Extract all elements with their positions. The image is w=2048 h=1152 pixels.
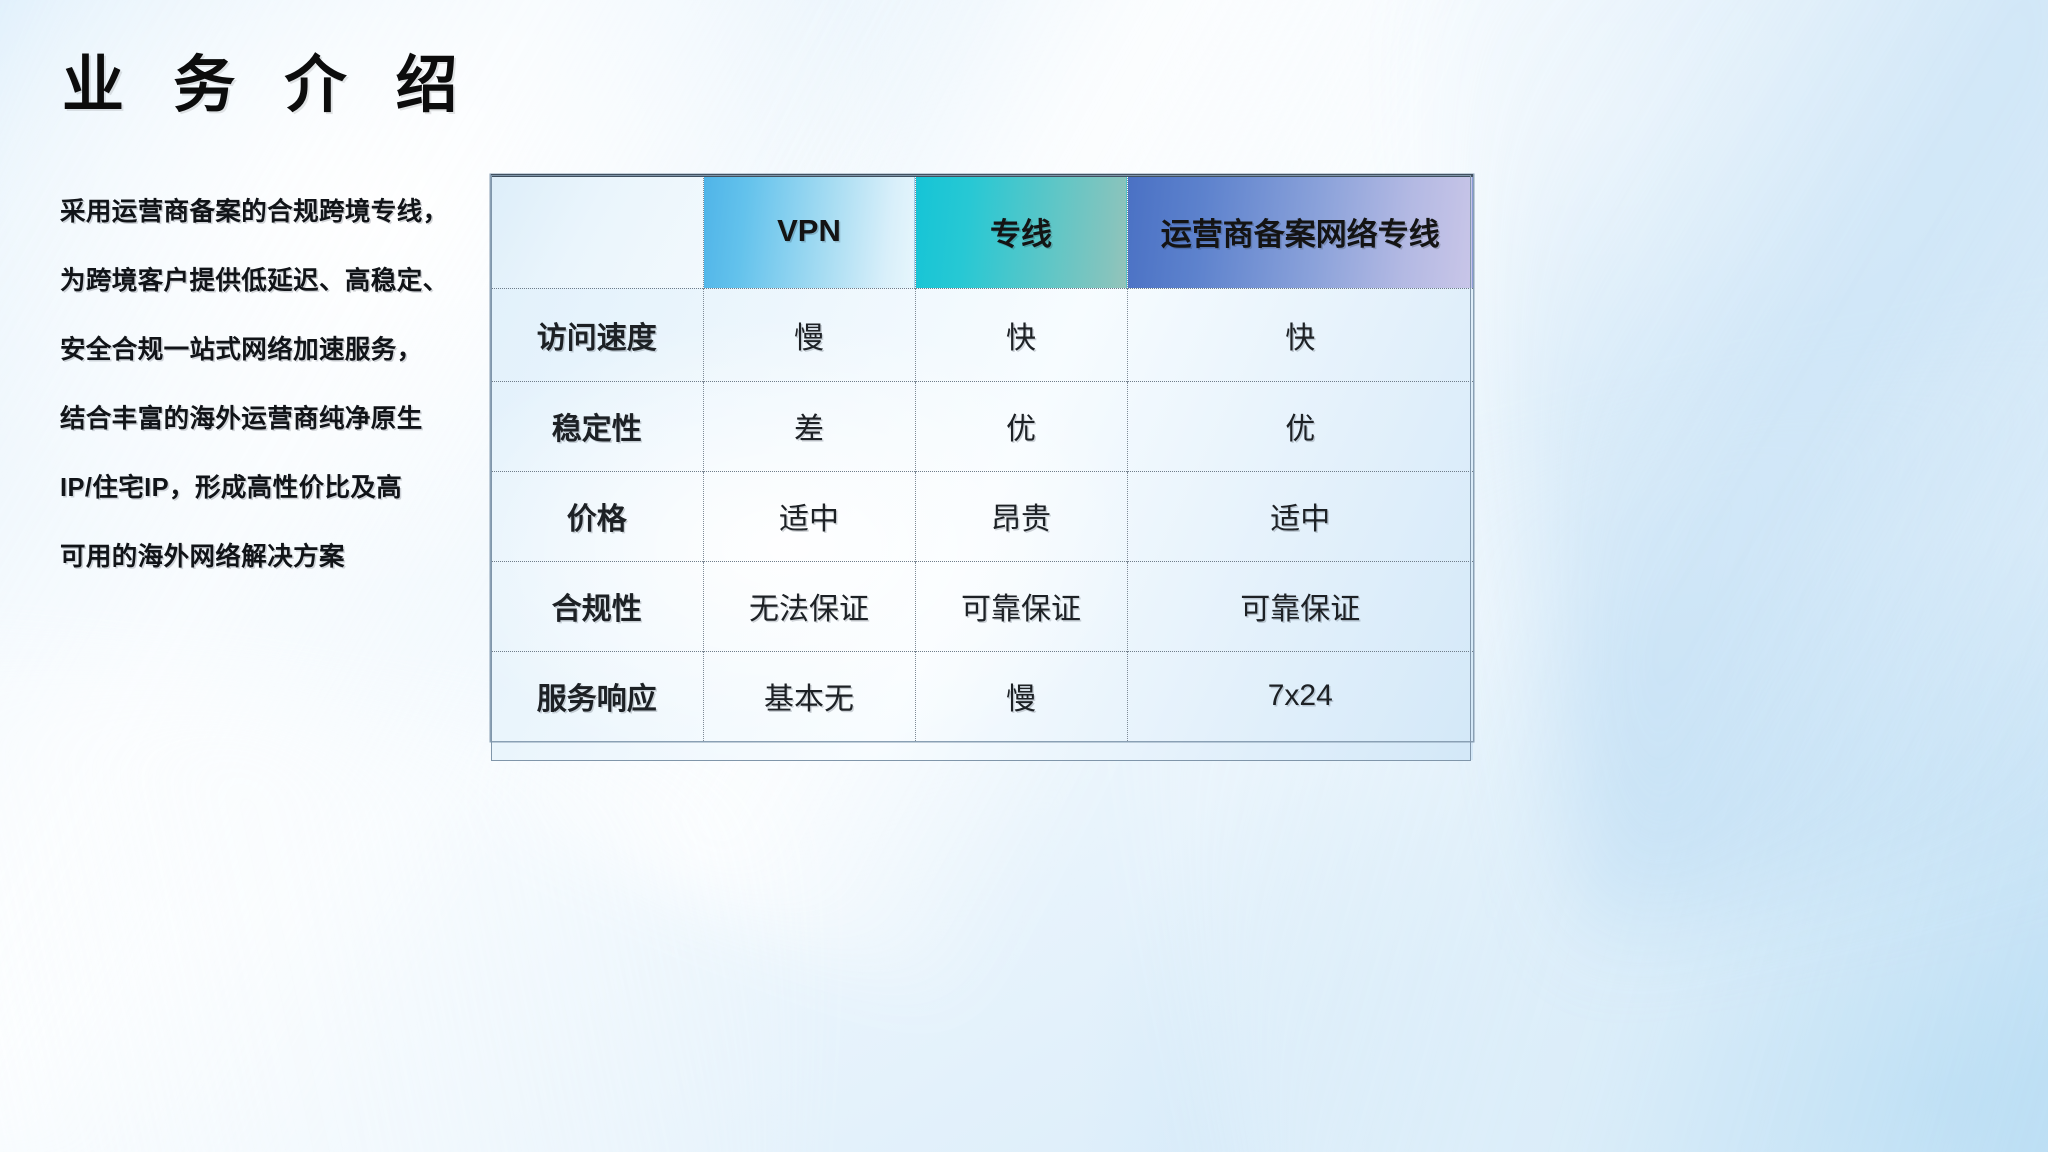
table-header: VPN 专线 运营商备案网络专线: [491, 175, 1473, 288]
table-row: 合规性 无法保证 可靠保证 可靠保证: [491, 561, 1473, 651]
slide-canvas: 业 务 介 绍 采用运营商备案的合规跨境专线， 为跨境客户提供低延迟、高稳定、 …: [0, 0, 2048, 1152]
cell-access-speed-vpn: 慢: [703, 288, 915, 381]
cell-service-response-dedicated-line: 慢: [915, 651, 1127, 741]
cell-compliance-vpn: 无法保证: [703, 561, 915, 651]
cell-service-response-vpn: 基本无: [703, 651, 915, 741]
comparison-table: VPN 专线 运营商备案网络专线 访问速度 慢 快 快 稳定性 差 优 优 价格…: [491, 175, 1473, 741]
intro-line: 安全合规一站式网络加速服务，: [60, 316, 480, 385]
intro-line: 可用的海外网络解决方案: [60, 523, 480, 592]
cell-stability-dedicated-line: 优: [915, 381, 1127, 471]
table-top-rule: [491, 174, 1473, 177]
intro-line: 为跨境客户提供低延迟、高稳定、: [60, 247, 480, 316]
cell-access-speed-carrier-line: 快: [1127, 288, 1473, 381]
intro-line: IP/住宅IP，形成高性价比及高: [60, 454, 480, 523]
cell-compliance-carrier-line: 可靠保证: [1127, 561, 1473, 651]
row-label-access-speed: 访问速度: [491, 288, 703, 381]
cell-stability-carrier-line: 优: [1127, 381, 1473, 471]
table-header-dedicated-line: 专线: [915, 175, 1127, 288]
table-row: 访问速度 慢 快 快: [491, 288, 1473, 381]
table-header-corner: [491, 175, 703, 288]
intro-paragraph: 采用运营商备案的合规跨境专线， 为跨境客户提供低延迟、高稳定、 安全合规一站式网…: [60, 178, 480, 592]
background-light-streak-5: [1418, 0, 2048, 933]
cell-stability-vpn: 差: [703, 381, 915, 471]
table-header-carrier-filed-line: 运营商备案网络专线: [1127, 175, 1473, 288]
cell-compliance-dedicated-line: 可靠保证: [915, 561, 1127, 651]
row-label-stability: 稳定性: [491, 381, 703, 471]
row-label-service-response: 服务响应: [491, 651, 703, 741]
cell-price-vpn: 适中: [703, 471, 915, 561]
intro-line: 结合丰富的海外运营商纯净原生: [60, 385, 480, 454]
table-row: 价格 适中 昂贵 适中: [491, 471, 1473, 561]
cell-access-speed-dedicated-line: 快: [915, 288, 1127, 381]
table-header-vpn: VPN: [703, 175, 915, 288]
table-header-row: VPN 专线 运营商备案网络专线: [491, 175, 1473, 288]
intro-line: 采用运营商备案的合规跨境专线，: [60, 178, 480, 247]
table-row: 服务响应 基本无 慢 7x24: [491, 651, 1473, 741]
row-label-price: 价格: [491, 471, 703, 561]
cell-price-dedicated-line: 昂贵: [915, 471, 1127, 561]
page-title: 业 务 介 绍: [62, 50, 474, 121]
row-label-compliance: 合规性: [491, 561, 703, 651]
cell-service-response-carrier-line: 7x24: [1127, 651, 1473, 741]
cell-price-carrier-line: 适中: [1127, 471, 1473, 561]
table-row: 稳定性 差 优 优: [491, 381, 1473, 471]
table-body: 访问速度 慢 快 快 稳定性 差 优 优 价格 适中 昂贵 适中 合规性 无法保…: [491, 288, 1473, 741]
